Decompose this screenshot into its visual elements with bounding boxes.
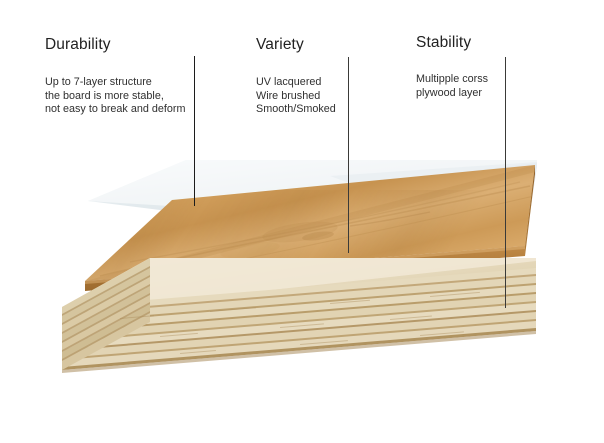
annotation-variety-title: Variety [256, 36, 336, 54]
annotation-variety-line-3: Smooth/Smoked [256, 103, 336, 117]
annotation-durability-body: Up to 7-layer structure the board is mor… [45, 76, 185, 117]
annotation-stability-title: Stability [416, 34, 488, 52]
annotation-variety: Variety UV lacquered Wire brushed Smooth… [256, 36, 336, 117]
annotation-variety-line-1: UV lacquered [256, 76, 336, 90]
annotation-durability-title: Durability [45, 36, 185, 54]
leader-line-durability [194, 56, 195, 206]
annotation-stability-body: Multipple corss plywood layer [416, 73, 488, 100]
leader-line-stability [505, 57, 506, 308]
annotation-stability: Stability Multipple corss plywood layer [416, 34, 488, 100]
annotation-durability-line-1: Up to 7-layer structure [45, 76, 185, 90]
annotation-variety-body: UV lacquered Wire brushed Smooth/Smoked [256, 76, 336, 117]
annotation-stability-line-1: Multipple corss [416, 73, 488, 87]
leader-line-variety [348, 57, 349, 253]
annotation-durability-line-3: not easy to break and deform [45, 103, 185, 117]
annotation-variety-line-2: Wire brushed [256, 90, 336, 104]
flooring-infographic: Durability Up to 7-layer structure the b… [0, 0, 604, 443]
layer-plywood-core [62, 258, 544, 373]
annotation-durability-line-2: the board is more stable, [45, 90, 185, 104]
annotation-stability-line-2: plywood layer [416, 87, 488, 101]
annotation-durability: Durability Up to 7-layer structure the b… [45, 36, 185, 117]
